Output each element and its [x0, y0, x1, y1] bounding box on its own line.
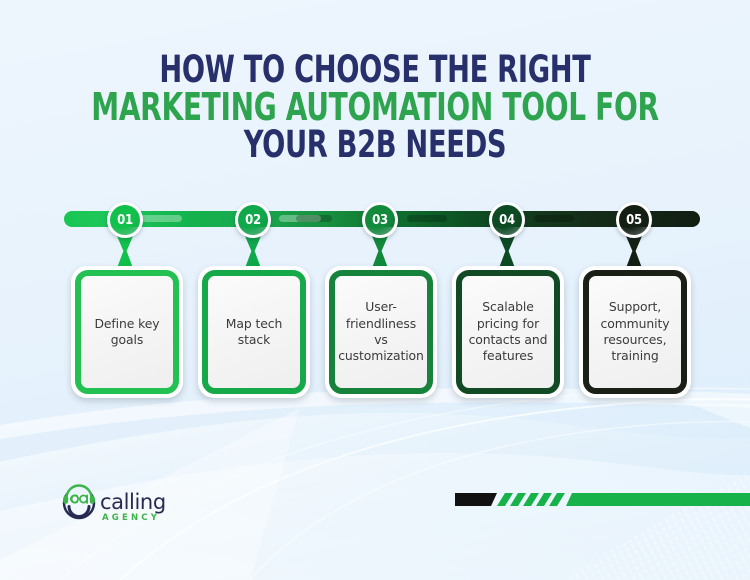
timeline-node-01[interactable]: 01 [107, 202, 143, 238]
step-card-frame: Define key goals [75, 270, 179, 394]
node-stem-03 [369, 236, 391, 268]
step-card-2[interactable]: Map tech stack [198, 266, 310, 398]
timeline-node-04[interactable]: 04 [489, 202, 525, 238]
step-card-text: User- friendliness vs customization [338, 299, 424, 365]
step-card-text: Scalable pricing for contacts and featur… [469, 299, 548, 365]
node-number-badge: 03 [362, 202, 398, 238]
step-card-frame: Support, community resources, training [583, 270, 687, 394]
step-card-text: Map tech stack [226, 316, 282, 349]
node-stem-04 [496, 236, 518, 268]
node-number-badge: 04 [489, 202, 525, 238]
infographic-canvas: HOW TO CHOOSE THE RIGHT MARKETING AUTOMA… [0, 0, 750, 580]
bar-segment-shadow [296, 215, 332, 222]
logo-subtitle: AGENCY [102, 513, 160, 523]
brand-logo[interactable]: calling AGENCY [58, 483, 180, 527]
step-card-frame: Scalable pricing for contacts and featur… [456, 270, 560, 394]
title-line-2: MARKETING AUTOMATION TOOL FOR [68, 89, 683, 125]
deco-bar-main [566, 493, 750, 506]
bar-segment-highlight [138, 215, 182, 222]
node-number-badge: 05 [616, 202, 652, 238]
deco-block [455, 493, 497, 506]
bar-segment-shadow [534, 215, 574, 222]
node-stem-01 [114, 236, 136, 268]
step-card-text: Define key goals [94, 316, 159, 349]
step-card-text: Support, community resources, training [601, 299, 670, 365]
step-card-1[interactable]: Define key goals [71, 266, 183, 398]
node-number-label: 05 [626, 213, 642, 228]
step-card-frame: User- friendliness vs customization [329, 270, 433, 394]
step-card-4[interactable]: Scalable pricing for contacts and featur… [452, 266, 564, 398]
timeline-node-03[interactable]: 03 [362, 202, 398, 238]
timeline-node-05[interactable]: 05 [616, 202, 652, 238]
headset-circle-icon [63, 486, 95, 518]
node-number-label: 04 [499, 213, 515, 228]
node-number-label: 02 [245, 213, 261, 228]
timeline-node-02[interactable]: 02 [235, 202, 271, 238]
node-stem-02 [242, 236, 264, 268]
step-card-5[interactable]: Support, community resources, training [579, 266, 691, 398]
node-stem-05 [623, 236, 645, 268]
page-title: HOW TO CHOOSE THE RIGHT MARKETING AUTOMA… [0, 52, 750, 162]
node-number-badge: 02 [235, 202, 271, 238]
node-number-label: 01 [117, 213, 133, 228]
decorative-accent-bar [455, 489, 750, 509]
node-number-badge: 01 [107, 202, 143, 238]
step-card-3[interactable]: User- friendliness vs customization [325, 266, 437, 398]
title-line-3: YOUR B2B NEEDS [68, 127, 683, 162]
step-card-frame: Map tech stack [202, 270, 306, 394]
logo-wordmark: calling [100, 490, 166, 514]
node-number-label: 03 [372, 213, 388, 228]
deco-slashes [497, 493, 565, 506]
title-line-1: HOW TO CHOOSE THE RIGHT [68, 52, 683, 87]
bar-segment-shadow [407, 215, 447, 222]
